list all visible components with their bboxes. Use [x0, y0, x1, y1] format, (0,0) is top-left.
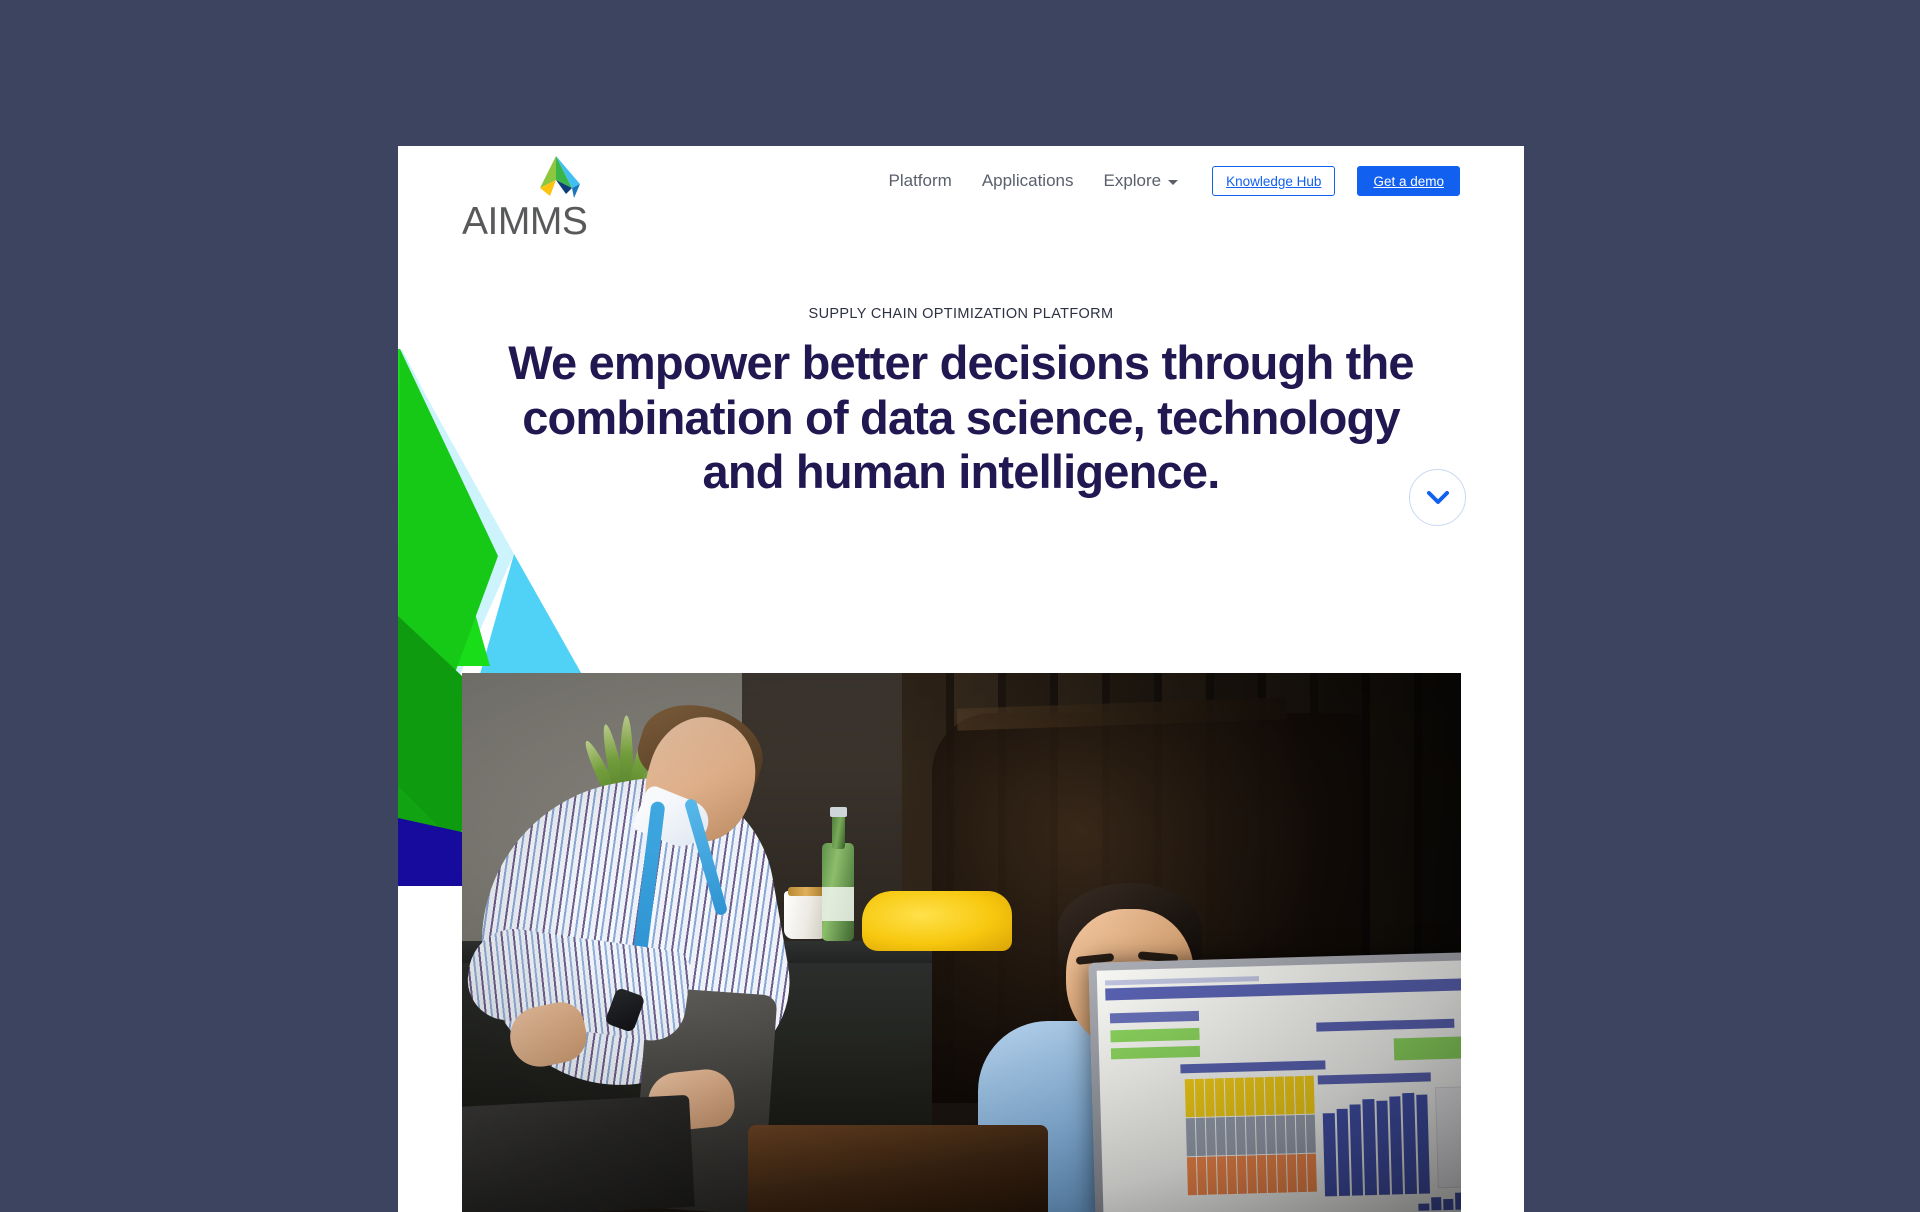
hero-copy: SUPPLY CHAIN OPTIMIZATION PLATFORM We em…	[398, 306, 1524, 500]
heatmap-cell	[1195, 1079, 1205, 1117]
chevron-down-icon	[1168, 180, 1178, 185]
bar	[1323, 1113, 1337, 1196]
heatmap-cell	[1185, 1079, 1195, 1117]
hero-headline: We empower better decisions through the …	[398, 336, 1524, 500]
mini-bar	[1455, 1192, 1461, 1210]
heatmap-cell	[1215, 1078, 1225, 1116]
heatmap-cell	[1205, 1078, 1215, 1116]
dashboard-side-panel	[1435, 1086, 1461, 1188]
heatmap-cell	[1275, 1076, 1285, 1114]
heatmap-cell	[1217, 1156, 1227, 1194]
heatmap-cell	[1247, 1155, 1257, 1193]
nav-item-applications[interactable]: Applications	[982, 164, 1074, 198]
heatmap-cell	[1216, 1117, 1226, 1155]
photo-monitor	[1088, 951, 1461, 1212]
heatmap-cell	[1277, 1154, 1287, 1192]
photo-laptop-left	[462, 1095, 695, 1212]
hero-eyebrow: SUPPLY CHAIN OPTIMIZATION PLATFORM	[398, 306, 1524, 322]
heatmap-cell	[1255, 1077, 1265, 1115]
dashboard-bar-chart	[1322, 1093, 1430, 1197]
bar	[1416, 1095, 1430, 1194]
heatmap-cell	[1265, 1077, 1275, 1115]
photo-bottle-label	[822, 887, 854, 921]
heatmap-cell	[1187, 1157, 1197, 1195]
chevron-down-icon	[1427, 491, 1449, 505]
heatmap-cell	[1197, 1157, 1207, 1195]
heatmap-cell	[1295, 1076, 1305, 1114]
bar	[1389, 1096, 1403, 1194]
heatmap-cell	[1257, 1155, 1267, 1193]
dashboard-green-block	[1394, 1035, 1461, 1060]
dashboard-mini-bar-chart	[1418, 1192, 1461, 1212]
photo-monitor-dashboard	[1097, 959, 1461, 1212]
heatmap-cell	[1186, 1118, 1196, 1156]
photo-mug-contents	[788, 887, 824, 896]
deco-triangle-green-dark	[398, 626, 458, 875]
photo-yellow-jacket	[862, 891, 1012, 951]
bar	[1336, 1109, 1350, 1196]
heatmap-cell	[1227, 1156, 1237, 1194]
heatmap-cell	[1196, 1118, 1206, 1156]
dashboard-status-row-1	[1110, 1028, 1199, 1042]
get-a-demo-button[interactable]: Get a demo	[1357, 166, 1460, 196]
mini-bar	[1431, 1197, 1442, 1211]
heatmap-cell	[1287, 1154, 1297, 1192]
heatmap-cell	[1267, 1155, 1277, 1193]
heatmap-cell	[1256, 1116, 1266, 1154]
site-header: AIMMS Platform Applications Explore Know…	[398, 146, 1524, 256]
dashboard-status-row-2	[1111, 1046, 1200, 1060]
heatmap-cell	[1285, 1076, 1295, 1114]
brand-logo[interactable]: AIMMS	[462, 162, 586, 238]
heatmap-cell	[1246, 1116, 1256, 1154]
hero-photo	[462, 673, 1461, 1212]
heatmap-cell	[1235, 1078, 1245, 1116]
photo-bottle-neck	[832, 813, 845, 849]
photo-bottle-cap	[830, 807, 847, 817]
dashboard-right-bar-2	[1318, 1072, 1431, 1084]
heatmap-cell	[1226, 1117, 1236, 1155]
heatmap-cell	[1296, 1115, 1306, 1153]
mini-bar	[1443, 1199, 1454, 1211]
dashboard-panel-title	[1110, 1011, 1199, 1024]
heatmap-cell	[1286, 1115, 1296, 1153]
heatmap-cell	[1236, 1116, 1246, 1154]
heatmap-cell	[1297, 1154, 1307, 1192]
dashboard-right-bar-1	[1316, 1019, 1454, 1032]
photo-laptop-center	[748, 1125, 1048, 1212]
mini-bar	[1418, 1203, 1429, 1211]
bar	[1349, 1104, 1363, 1196]
knowledge-hub-button[interactable]: Knowledge Hub	[1212, 166, 1335, 196]
aimms-triangle-mark-icon	[528, 154, 584, 200]
dashboard-chart-title	[1180, 1060, 1326, 1073]
bar	[1376, 1101, 1390, 1195]
bar	[1363, 1099, 1377, 1195]
nav-item-explore-label: Explore	[1103, 164, 1161, 198]
heatmap-cell	[1266, 1116, 1276, 1154]
heatmap-cell	[1305, 1076, 1315, 1114]
heatmap-cell	[1225, 1078, 1235, 1116]
nav-item-platform[interactable]: Platform	[889, 164, 952, 198]
photo-stage	[462, 673, 1461, 1212]
bar	[1403, 1093, 1417, 1194]
scroll-down-button[interactable]	[1409, 469, 1466, 526]
heatmap-cell	[1237, 1155, 1247, 1193]
heatmap-cell	[1206, 1117, 1216, 1155]
page-sheet: AIMMS Platform Applications Explore Know…	[398, 146, 1524, 1212]
nav-item-explore[interactable]: Explore	[1103, 164, 1178, 198]
heatmap-cell	[1245, 1077, 1255, 1115]
dashboard-heatmap	[1185, 1076, 1317, 1195]
heatmap-cell	[1207, 1156, 1217, 1194]
primary-nav: Platform Applications Explore Knowledge …	[889, 164, 1460, 198]
brand-wordmark: AIMMS	[462, 200, 587, 244]
heatmap-cell	[1306, 1114, 1316, 1152]
heatmap-cell	[1307, 1153, 1317, 1191]
heatmap-cell	[1276, 1115, 1286, 1153]
